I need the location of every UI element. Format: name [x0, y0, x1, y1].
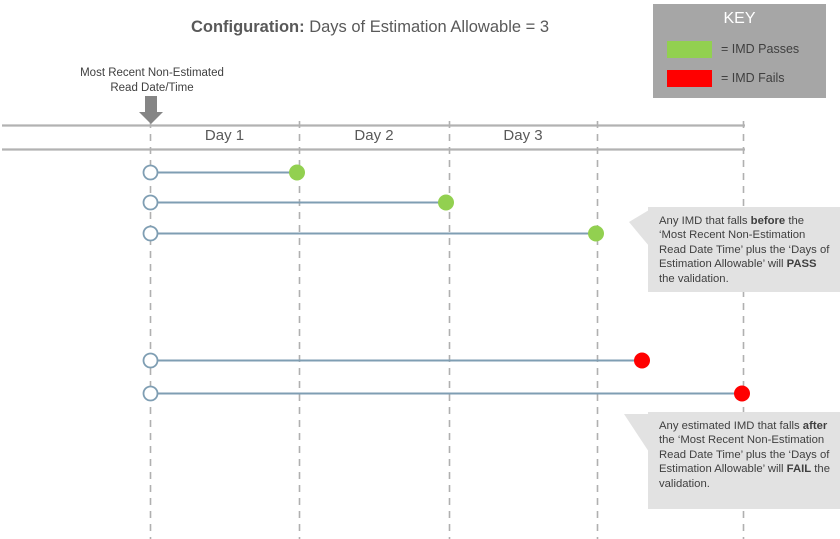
pass-callout-tail — [629, 210, 649, 246]
most-recent-read-line2: Read Date/Time — [57, 81, 247, 96]
down-arrow-icon — [139, 96, 163, 124]
origin-marker — [144, 166, 158, 180]
page-title: Configuration: Days of Estimation Allowa… — [150, 18, 590, 37]
day-label-1: Day 1 — [150, 127, 299, 144]
green-square-icon — [667, 41, 712, 58]
key-item-fail-label: = IMD Fails — [721, 71, 785, 85]
imd-dot-fail — [634, 353, 650, 369]
origin-marker — [144, 227, 158, 241]
key-legend: KEY = IMD Passes = IMD Fails — [653, 4, 826, 98]
day-label-2: Day 2 — [299, 127, 449, 144]
pass-callout-text: Any IMD that falls before the ‘Most Rece… — [659, 215, 829, 285]
day-label-3: Day 3 — [449, 127, 597, 144]
key-item-fail: = IMD Fails — [667, 68, 785, 88]
fail-callout: Any estimated IMD that falls after the ‘… — [648, 412, 840, 509]
most-recent-read-line1: Most Recent Non-Estimated — [57, 66, 247, 81]
origin-marker — [144, 387, 158, 401]
config-title-value: Days of Estimation Allowable = 3 — [309, 18, 549, 36]
imd-row-pass-2 — [144, 195, 455, 211]
key-item-pass: = IMD Passes — [667, 39, 799, 59]
fail-callout-tail — [624, 414, 649, 452]
imd-row-pass-3 — [144, 226, 605, 242]
key-item-pass-label: = IMD Passes — [721, 42, 799, 56]
imd-dot-pass — [289, 165, 305, 181]
origin-marker — [144, 354, 158, 368]
config-title-label: Configuration: — [191, 18, 305, 36]
origin-marker — [144, 196, 158, 210]
fail-callout-text: Any estimated IMD that falls after the ‘… — [659, 420, 830, 490]
red-square-icon — [667, 70, 712, 87]
most-recent-read-label: Most Recent Non-Estimated Read Date/Time — [57, 66, 247, 96]
imd-dot-pass — [588, 226, 604, 242]
imd-dot-fail — [734, 386, 750, 402]
imd-dot-pass — [438, 195, 454, 211]
key-heading: KEY — [653, 10, 826, 28]
pass-callout: Any IMD that falls before the ‘Most Rece… — [648, 207, 840, 292]
imd-row-fail-2 — [144, 386, 751, 402]
imd-row-pass-1 — [144, 165, 306, 181]
imd-row-fail-1 — [144, 353, 651, 369]
